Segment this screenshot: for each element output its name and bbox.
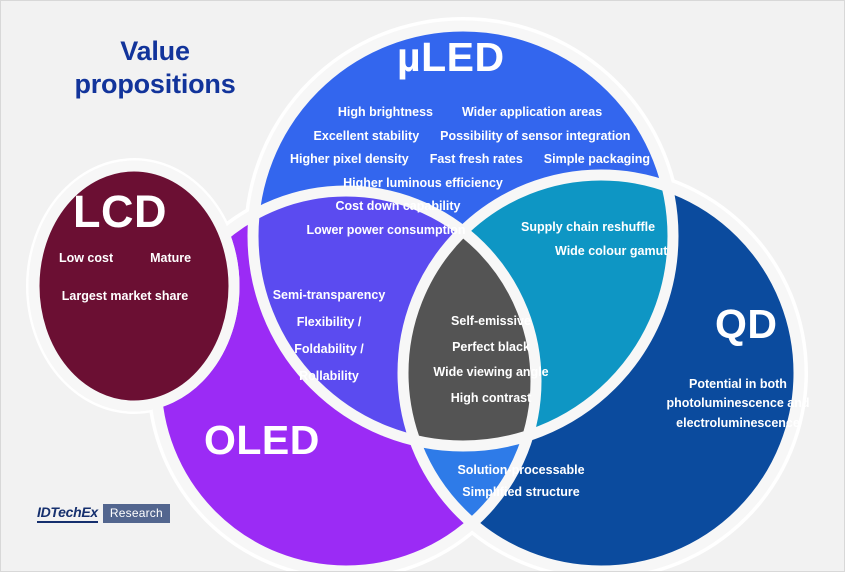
item-row: Low cost Mature xyxy=(35,247,215,271)
venn-infographic: Value propositions µLED LCD QD OLED High… xyxy=(0,0,845,572)
item-label: Flexibility / xyxy=(249,309,409,336)
item-label: Rollability xyxy=(249,363,409,390)
item-label: Wide viewing angle xyxy=(406,360,576,386)
item-label: Cost down capability xyxy=(335,199,460,213)
item-label: Low cost xyxy=(59,251,113,265)
item-row: Higher luminous efficiency xyxy=(256,172,676,196)
logo-research-badge: Research xyxy=(103,504,170,523)
item-label: Foldability / xyxy=(249,336,409,363)
item-label: Perfect black xyxy=(406,335,576,361)
item-label: Higher luminous efficiency xyxy=(343,176,503,190)
idtechex-logo: IDTechEx Research xyxy=(37,504,170,523)
item-label: Largest market share xyxy=(62,289,188,303)
item-label: Excellent stability xyxy=(314,129,420,143)
item-label: Wide colour gamut xyxy=(555,240,701,264)
page-title-line1: Value xyxy=(120,36,190,66)
item-label: Higher pixel density xyxy=(290,152,409,166)
items-oled-qd: Solution-processable Simplified structur… xyxy=(431,460,611,503)
item-label: Semi-transparency xyxy=(249,282,409,309)
items-uled-oled: Semi-transparency Flexibility / Foldabil… xyxy=(249,282,409,390)
item-label: Simplified structure xyxy=(431,482,611,504)
page-title: Value propositions xyxy=(31,35,279,101)
item-row: Largest market share xyxy=(35,285,215,309)
item-label: Wider application areas xyxy=(462,105,602,119)
logo-wordmark: IDTechEx xyxy=(37,504,98,523)
item-label: photoluminescence and xyxy=(663,394,813,413)
item-label: Lower power consumption xyxy=(306,223,465,237)
set-label-qd: QD xyxy=(715,304,778,345)
item-label: Solution-processable xyxy=(431,460,611,482)
set-label-lcd: LCD xyxy=(73,189,167,234)
item-row: Excellent stability Possibility of senso… xyxy=(256,125,676,149)
set-label-oled: OLED xyxy=(204,420,320,461)
item-label: High brightness xyxy=(338,105,433,119)
item-row: High brightness Wider application areas xyxy=(256,101,676,125)
item-label: High contrast xyxy=(406,386,576,412)
items-qd-only: Potential in both photoluminescence and … xyxy=(663,375,813,433)
item-row: Cost down capability xyxy=(256,195,676,219)
item-label: Self-emissive xyxy=(406,309,576,335)
items-center-all: Self-emissive Perfect black Wide viewing… xyxy=(406,309,576,412)
items-uled-qd: Supply chain reshuffle Wide colour gamut xyxy=(521,216,701,263)
item-label: Supply chain reshuffle xyxy=(521,216,701,240)
page-title-line2: propositions xyxy=(74,69,235,99)
item-row: Higher pixel density Fast fresh rates Si… xyxy=(256,148,676,172)
item-label: Possibility of sensor integration xyxy=(440,129,630,143)
item-label: Potential in both xyxy=(663,375,813,394)
item-label: Fast fresh rates xyxy=(430,152,523,166)
item-label: Simple packaging xyxy=(544,152,650,166)
item-label: Mature xyxy=(150,251,191,265)
items-lcd-only: Low cost Mature Largest market share xyxy=(35,247,215,308)
set-label-uled: µLED xyxy=(397,37,505,78)
item-label: electroluminescence xyxy=(663,414,813,433)
